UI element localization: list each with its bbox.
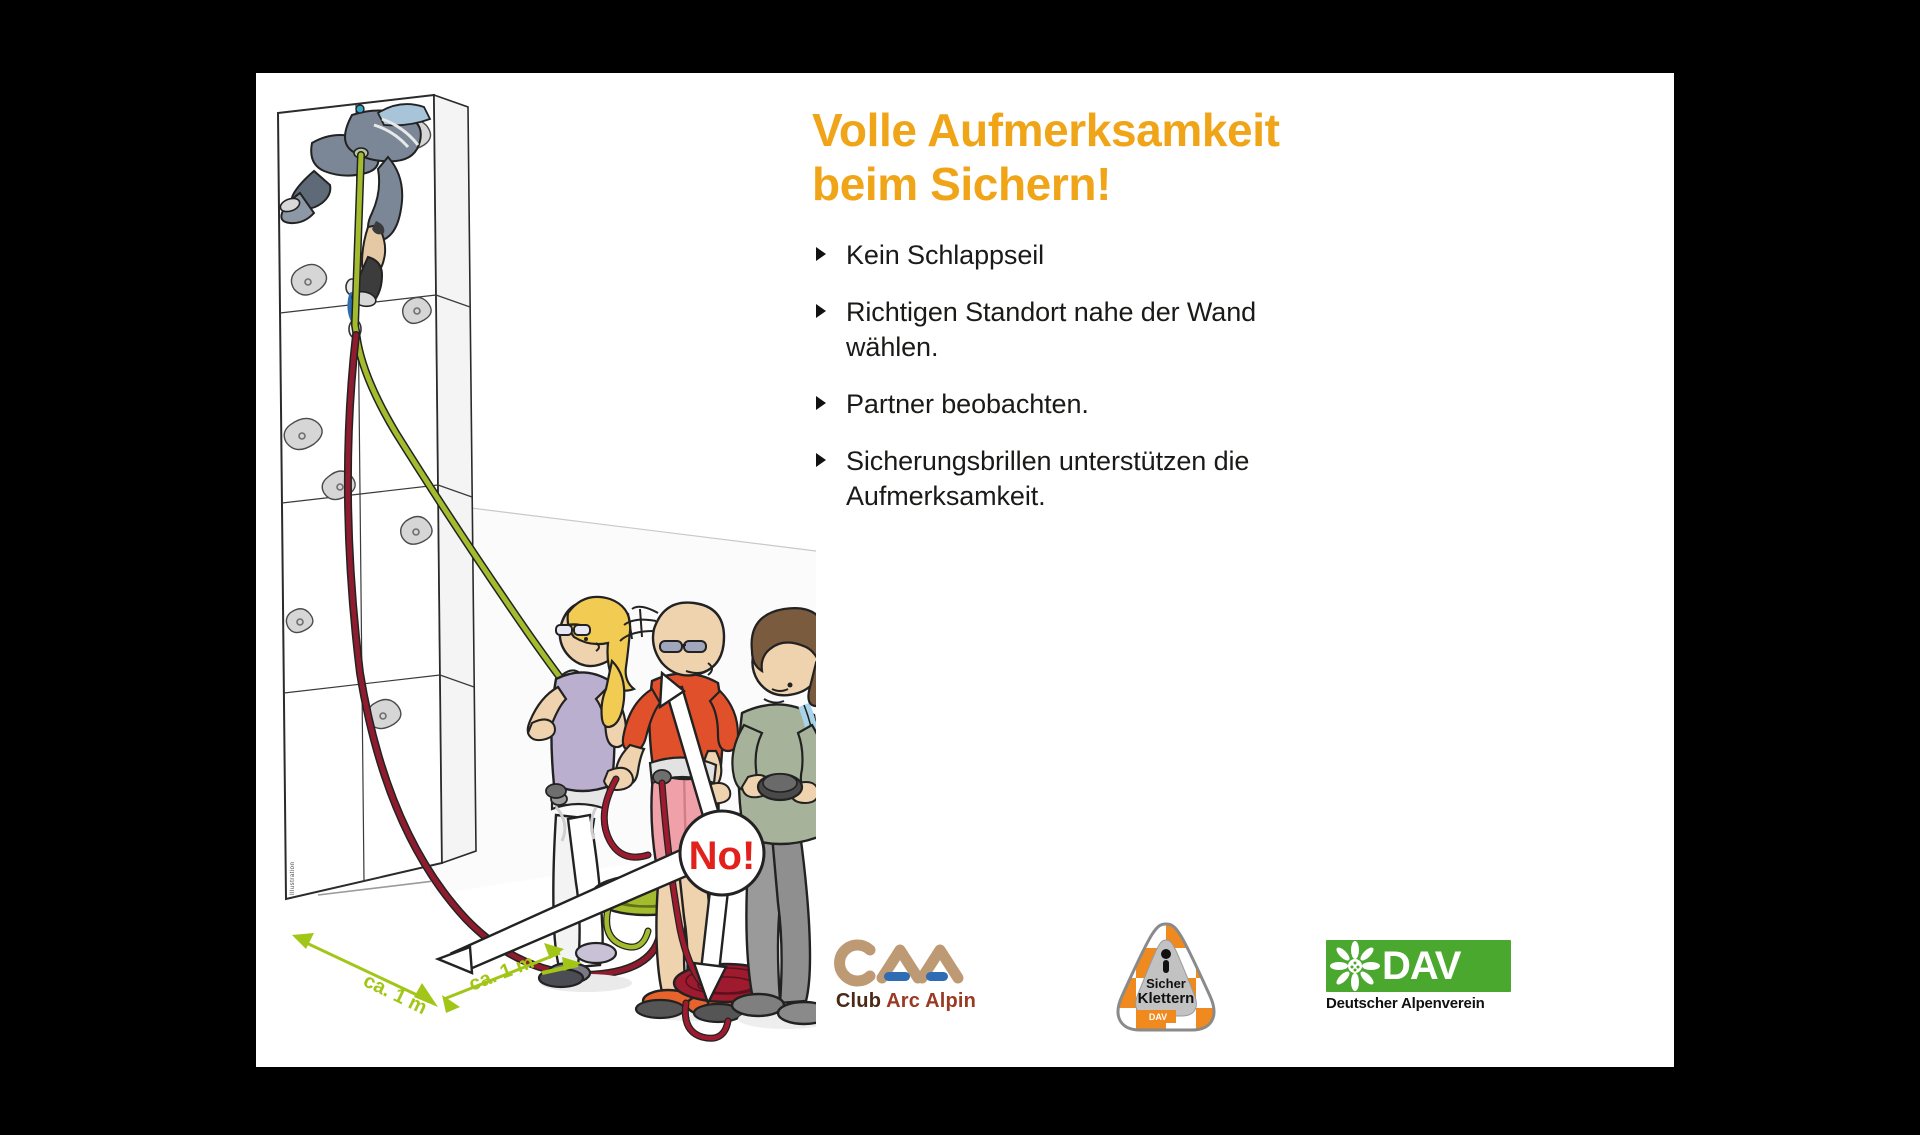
dav-acronym: DAV — [1382, 942, 1460, 990]
caa-wordmark: Club Arc Alpin — [816, 990, 996, 1013]
caa-word-club: Club — [836, 990, 881, 1012]
logo-row: Club Arc Alpin — [806, 918, 1636, 1038]
dav-subtitle: Deutscher Alpenverein — [1326, 995, 1556, 1012]
list-item-label: Richtigen Standort nahe der Wand wählen. — [846, 297, 1256, 362]
climbing-illustration: No! ca. 1 m ca. 1 m — [256, 73, 816, 1067]
triangle-right-icon — [816, 304, 826, 318]
triangle-right-icon — [816, 453, 826, 467]
sk-tag: DAV — [1149, 1012, 1167, 1022]
caa-word-alpin: Alpin — [925, 990, 976, 1012]
poster-card: No! ca. 1 m ca. 1 m — [256, 73, 1674, 1067]
page-title: Volle Aufmerksamkeit beim Sichern! — [812, 103, 1332, 212]
list-item-label: Sicherungsbrillen unterstützen die Aufme… — [846, 446, 1249, 511]
logo-club-arc-alpin: Club Arc Alpin — [816, 936, 996, 1013]
logo-dav: DAV Deutscher Alpenverein — [1326, 940, 1556, 1012]
safety-tips-list: Kein Schlappseil Richtigen Standort nahe… — [812, 238, 1332, 515]
sk-line2: Klettern — [1138, 990, 1195, 1007]
list-item-label: Kein Schlappseil — [846, 240, 1044, 270]
caa-word-arc: Arc — [886, 990, 920, 1012]
caa-monogram-icon — [826, 936, 986, 988]
list-item: Sicherungsbrillen unterstützen die Aufme… — [812, 444, 1332, 514]
illustration-credit: Illustration — [290, 862, 296, 895]
triangle-right-icon — [816, 247, 826, 261]
dav-box: DAV — [1326, 940, 1511, 992]
edelweiss-icon — [1330, 941, 1380, 991]
list-item: Partner beobachten. — [812, 387, 1332, 422]
sk-line1: Sicher — [1146, 976, 1186, 991]
logo-sicher-klettern: Sicher Klettern DAV — [1106, 918, 1226, 1036]
list-item: Kein Schlappseil — [812, 238, 1332, 273]
poster-stage: No! ca. 1 m ca. 1 m — [0, 0, 1920, 1135]
triangle-right-icon — [816, 396, 826, 410]
no-label: No! — [689, 834, 756, 878]
list-item-label: Partner beobachten. — [846, 389, 1089, 419]
text-column: Volle Aufmerksamkeit beim Sichern! Kein … — [812, 103, 1332, 536]
smartphone — [758, 774, 802, 800]
list-item: Richtigen Standort nahe der Wand wählen. — [812, 295, 1332, 365]
